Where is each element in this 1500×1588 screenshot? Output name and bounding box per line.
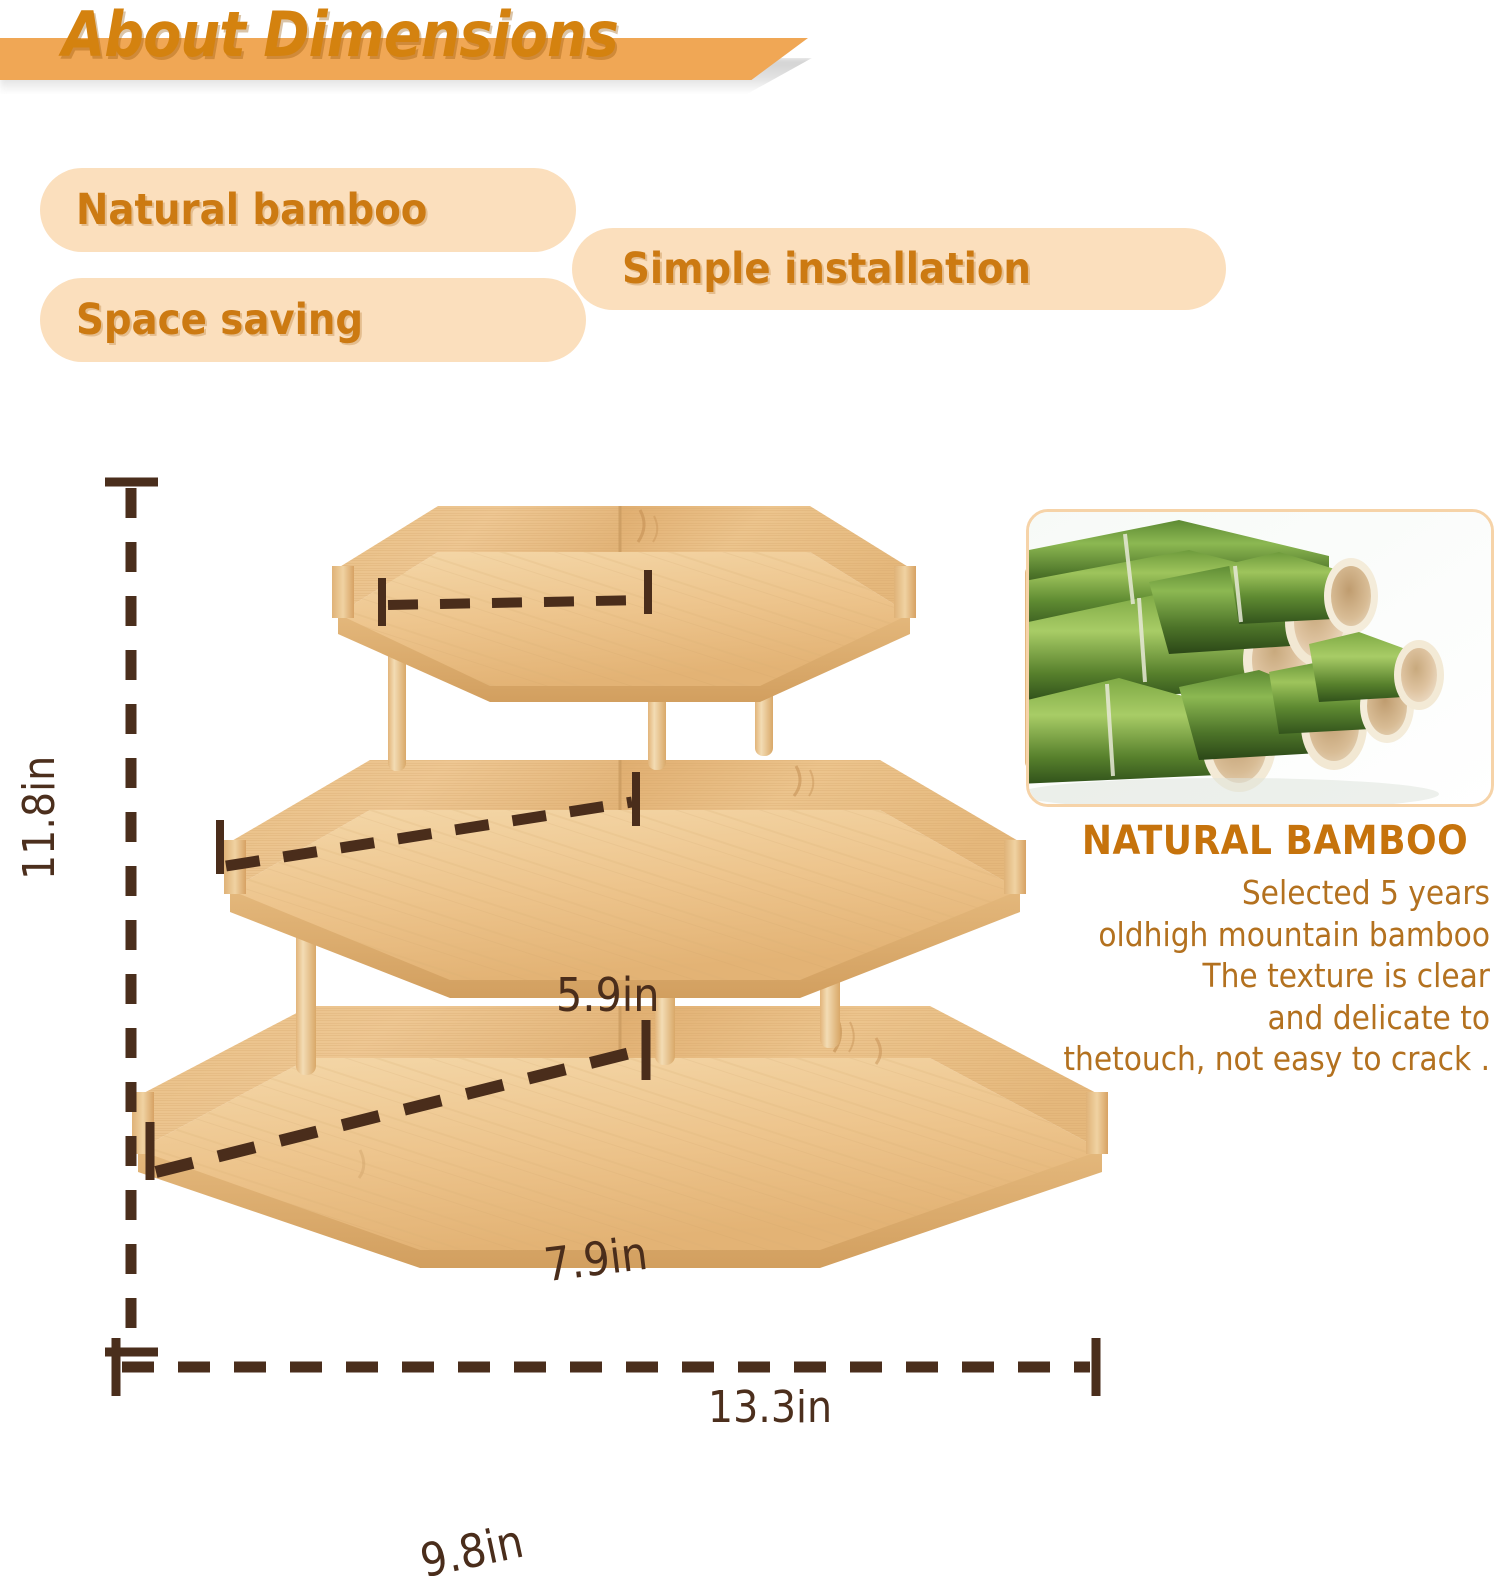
bamboo-section-heading: NATURAL BAMBOO <box>1060 818 1490 864</box>
height-dimension-label: 11.8in <box>14 756 65 880</box>
width-dimension-label: 13.3in <box>708 1382 832 1433</box>
shelf-tier-middle <box>224 760 1026 998</box>
bamboo-stalks-photo <box>1029 512 1491 804</box>
feature-pill-label: Space saving <box>76 295 363 345</box>
corner-shelf-graphic <box>120 450 1120 1350</box>
bamboo-description-line: oldhigh mountain bamboo <box>1040 914 1490 956</box>
feature-pill-label: Simple installation <box>622 244 1031 294</box>
product-illustration: 5.9in 7.9in 9.8in <box>120 450 1120 1350</box>
depth-label-bottom: 9.8in <box>416 1514 528 1588</box>
bamboo-description-line: The texture is clear <box>1040 955 1490 997</box>
feature-pill-label: Natural bamboo <box>76 185 427 235</box>
bamboo-description: Selected 5 years oldhigh mountain bamboo… <box>1040 872 1490 1080</box>
depth-label-top: 5.9in <box>556 968 660 1022</box>
bamboo-description-line: Selected 5 years <box>1040 872 1490 914</box>
infographic-canvas: About Dimensions Natural bamboo Space sa… <box>0 0 1500 1440</box>
bamboo-description-line: thetouch, not easy to crack . <box>1040 1038 1490 1080</box>
feature-pill-natural-bamboo: Natural bamboo <box>40 168 576 252</box>
bamboo-photo-card <box>1026 509 1494 807</box>
feature-pill-space-saving: Space saving <box>40 278 586 362</box>
page-title: About Dimensions <box>62 0 618 71</box>
feature-pill-simple-installation: Simple installation <box>572 228 1226 310</box>
bamboo-description-line: and delicate to <box>1040 997 1490 1039</box>
